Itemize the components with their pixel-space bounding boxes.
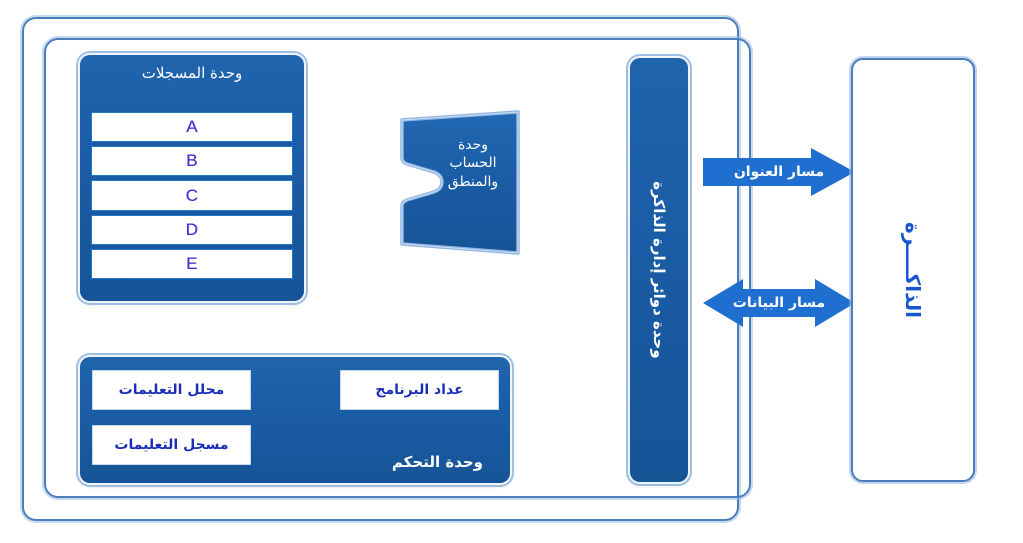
register-row-c[interactable]: C <box>91 180 293 210</box>
control-unit-label: وحدة التحكم <box>392 453 483 471</box>
alu-block[interactable]: وحدة الحساب والمنطق <box>390 110 525 255</box>
control-unit-block[interactable]: عداد البرنامج محلل التعليمات مسجل التعلي… <box>80 357 510 483</box>
registers-unit-block[interactable]: وحدة المسجلات A B C D E <box>80 55 304 301</box>
alu-label-group: وحدة الحساب والمنطق <box>426 136 520 191</box>
instruction-decoder-box[interactable]: محلل التعليمات <box>92 370 251 410</box>
address-bus-label: مسار العنوان <box>734 164 824 180</box>
register-row-a[interactable]: A <box>91 112 293 142</box>
register-row-b[interactable]: B <box>91 146 293 176</box>
registers-unit-title: وحدة المسجلات <box>80 64 304 83</box>
program-counter-box[interactable]: عداد البرنامج <box>340 370 499 410</box>
alu-label-line-1: وحدة <box>426 136 520 154</box>
register-row-e[interactable]: E <box>91 249 293 279</box>
data-bus-arrow[interactable]: مسار البيانات <box>703 277 855 329</box>
registers-list: A B C D E <box>91 112 293 279</box>
diagram-canvas: وحدة المسجلات A B C D E وحدة الحساب وا <box>0 0 1023 543</box>
data-bus-label: مسار البيانات <box>733 295 825 311</box>
alu-label-line-2: الحساب <box>426 154 520 172</box>
alu-label-line-3: والمنطق <box>426 173 520 191</box>
memory-label: الذاكــــرة <box>901 222 925 318</box>
address-bus-arrow[interactable]: مسار العنوان <box>703 148 855 196</box>
instruction-register-box[interactable]: مسجل التعليمات <box>92 425 251 465</box>
memory-block[interactable]: الذاكــــرة <box>851 58 975 482</box>
register-row-d[interactable]: D <box>91 215 293 245</box>
memory-management-unit-label: وحدة دوائر إدارة الذاكرة <box>650 181 668 358</box>
memory-management-unit-block[interactable]: وحدة دوائر إدارة الذاكرة <box>630 58 688 482</box>
